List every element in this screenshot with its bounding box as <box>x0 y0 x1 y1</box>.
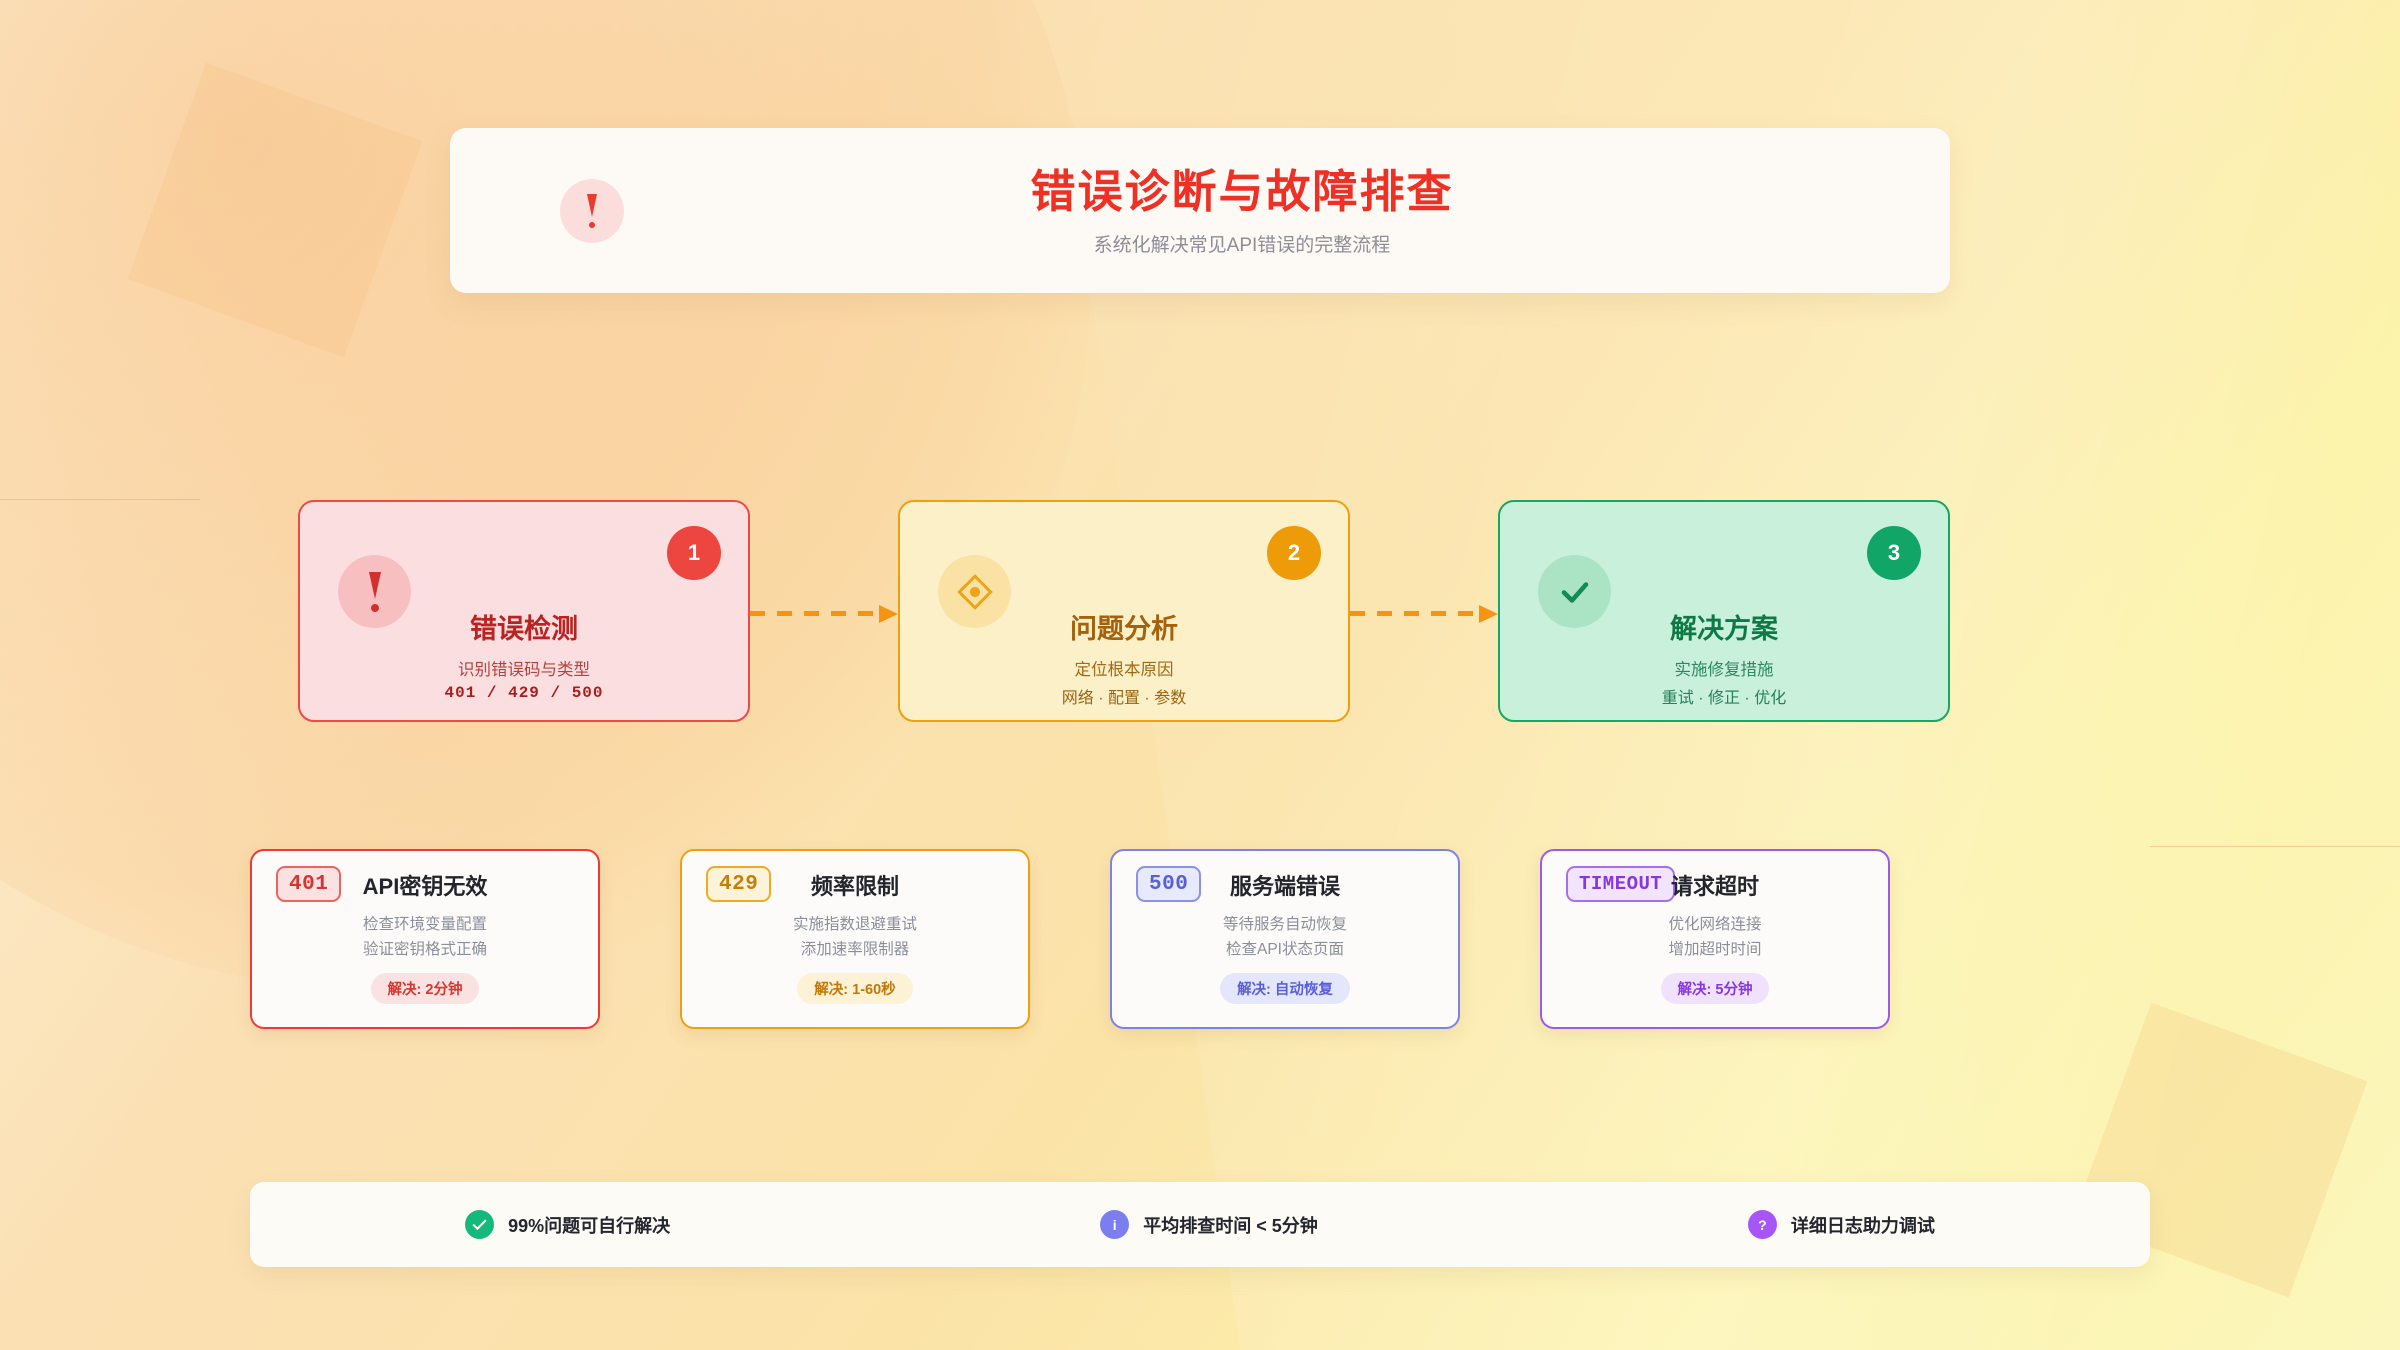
step-number-badge: 1 <box>667 526 721 580</box>
resolution-time-badge: 解决: 自动恢复 <box>1220 973 1350 1004</box>
error-card-429[interactable]: 429 频率限制 实施指数退避重试 添加速率限制器 解决: 1-60秒 <box>680 849 1030 1029</box>
question-circle-icon: ? <box>1748 1210 1777 1239</box>
step-meta: 网络 · 配置 · 参数 <box>900 684 1348 708</box>
step-card-error-detection[interactable]: 1 错误检测 识别错误码与类型 401 / 429 / 500 <box>298 500 750 722</box>
footer-stat-label: 平均排查时间 < 5分钟 <box>1143 1212 1318 1238</box>
background-square-top-left <box>128 63 423 358</box>
error-hint: 增加超时时间 <box>1542 937 1888 962</box>
error-hint: 添加速率限制器 <box>682 937 1028 962</box>
background-rule-left <box>0 499 200 500</box>
alert-exclamation-icon <box>560 179 624 243</box>
background-rule-right <box>2150 846 2400 847</box>
error-card-401[interactable]: 401 API密钥无效 检查环境变量配置 验证密钥格式正确 解决: 2分钟 <box>250 849 600 1029</box>
header-card: 错误诊断与故障排查 系统化解决常见API错误的完整流程 <box>450 128 1950 293</box>
step-meta: 重试 · 修正 · 优化 <box>1500 684 1948 708</box>
error-hint: 实施指数退避重试 <box>682 912 1028 937</box>
error-title: 频率限制 <box>682 869 1028 901</box>
step-number-badge: 3 <box>1867 526 1921 580</box>
arrow-step2-to-step3 <box>1350 611 1498 616</box>
footer-stat-self-resolve: 99%问题可自行解决 <box>465 1210 670 1239</box>
step-description: 定位根本原因 <box>900 656 1348 680</box>
page-title: 错误诊断与故障排查 <box>624 164 1860 220</box>
info-circle-icon: i <box>1100 1210 1129 1239</box>
step-number-badge: 2 <box>1267 526 1321 580</box>
arrow-step1-to-step2 <box>750 611 898 616</box>
error-title: 请求超时 <box>1542 869 1888 901</box>
error-hint: 检查环境变量配置 <box>252 912 598 937</box>
resolution-time-badge: 解决: 1-60秒 <box>797 973 912 1004</box>
step-title: 解决方案 <box>1500 612 1948 647</box>
error-title: 服务端错误 <box>1112 869 1458 901</box>
error-hint: 优化网络连接 <box>1542 912 1888 937</box>
error-card-list: 401 API密钥无效 检查环境变量配置 验证密钥格式正确 解决: 2分钟 42… <box>250 849 1950 1029</box>
step-card-problem-analysis[interactable]: 2 问题分析 定位根本原因 网络 · 配置 · 参数 <box>898 500 1350 722</box>
header-text-group: 错误诊断与故障排查 系统化解决常见API错误的完整流程 <box>624 164 1860 257</box>
step-description: 实施修复措施 <box>1500 656 1948 680</box>
footer-stat-label: 详细日志助力调试 <box>1791 1212 1935 1238</box>
step-title: 问题分析 <box>900 612 1348 647</box>
error-card-500[interactable]: 500 服务端错误 等待服务自动恢复 检查API状态页面 解决: 自动恢复 <box>1110 849 1460 1029</box>
footer-stat-avg-time: i 平均排查时间 < 5分钟 <box>1100 1210 1318 1239</box>
step-meta: 401 / 429 / 500 <box>300 684 748 702</box>
footer-stats-bar: 99%问题可自行解决 i 平均排查时间 < 5分钟 ? 详细日志助力调试 <box>250 1182 2150 1267</box>
step-card-solution[interactable]: 3 解决方案 实施修复措施 重试 · 修正 · 优化 <box>1498 500 1950 722</box>
check-circle-icon <box>465 1210 494 1239</box>
resolution-time-badge: 解决: 2分钟 <box>371 973 480 1004</box>
error-hint: 检查API状态页面 <box>1112 937 1458 962</box>
error-card-timeout[interactable]: TIMEOUT 请求超时 优化网络连接 增加超时时间 解决: 5分钟 <box>1540 849 1890 1029</box>
error-hint: 等待服务自动恢复 <box>1112 912 1458 937</box>
footer-stat-logs: ? 详细日志助力调试 <box>1748 1210 1935 1239</box>
page-subtitle: 系统化解决常见API错误的完整流程 <box>624 230 1860 257</box>
resolution-time-badge: 解决: 5分钟 <box>1661 973 1770 1004</box>
error-title: API密钥无效 <box>252 869 598 901</box>
step-title: 错误检测 <box>300 612 748 647</box>
step-description: 识别错误码与类型 <box>300 656 748 680</box>
process-steps: 1 错误检测 识别错误码与类型 401 / 429 / 500 2 问题分析 定… <box>298 500 1950 722</box>
error-hint: 验证密钥格式正确 <box>252 937 598 962</box>
footer-stat-label: 99%问题可自行解决 <box>508 1212 670 1238</box>
